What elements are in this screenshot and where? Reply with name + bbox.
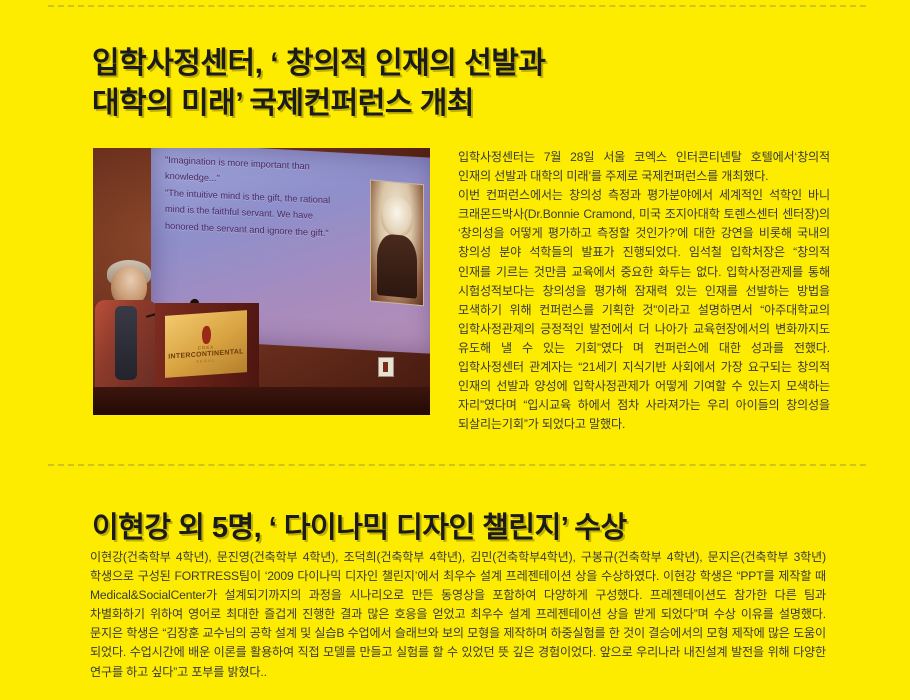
- exit-sign-icon: [378, 357, 394, 377]
- einstein-portrait: [370, 179, 424, 306]
- projection-screen-quote: "Imagination is more important than know…: [165, 152, 347, 242]
- article-2-headline: 이현강 외 5명, ‘ 다이나믹 디자인 챌린지’ 수상: [92, 509, 852, 547]
- divider-top: [48, 5, 866, 7]
- foreground-table: [93, 387, 430, 415]
- article-1-photo: "Imagination is more important than know…: [93, 148, 430, 415]
- article-2-body: 이현강(건축학부 4학년), 문진영(건축학부 4학년), 조덕희(건축학부 4…: [90, 548, 826, 682]
- article-1-headline: 입학사정센터, ‘ 창의적 인재의 선발과 대학의 미래’ 국제컨퍼런스 개최: [92, 44, 792, 123]
- article-1-body: 입학사정센터는 7월 28일 서울 코엑스 인터콘티넨탈 호텔에서‘창의적 인재…: [458, 148, 830, 434]
- newsletter-page: 입학사정센터, ‘ 창의적 인재의 선발과 대학의 미래’ 국제컨퍼런스 개최 …: [0, 0, 910, 700]
- podium-venue-city: SEOUL: [196, 358, 216, 363]
- article-2-paragraph: 이현강(건축학부 4학년), 문진영(건축학부 4학년), 조덕희(건축학부 4…: [90, 548, 826, 682]
- article-1-paragraph: 이번 컨퍼런스에서는 창의성 측정과 평가분야에서 세계적인 석학인 바니 크래…: [458, 186, 830, 434]
- speaker-scarf: [115, 306, 137, 380]
- intercontinental-logo-icon: [202, 325, 211, 344]
- article-1-paragraph: 입학사정센터는 7월 28일 서울 코엑스 인터콘티넨탈 호텔에서‘창의적 인재…: [458, 148, 830, 186]
- podium-logo-plate: COEX INTERCONTINENTAL SEOUL: [165, 310, 247, 378]
- divider-middle: [48, 464, 866, 466]
